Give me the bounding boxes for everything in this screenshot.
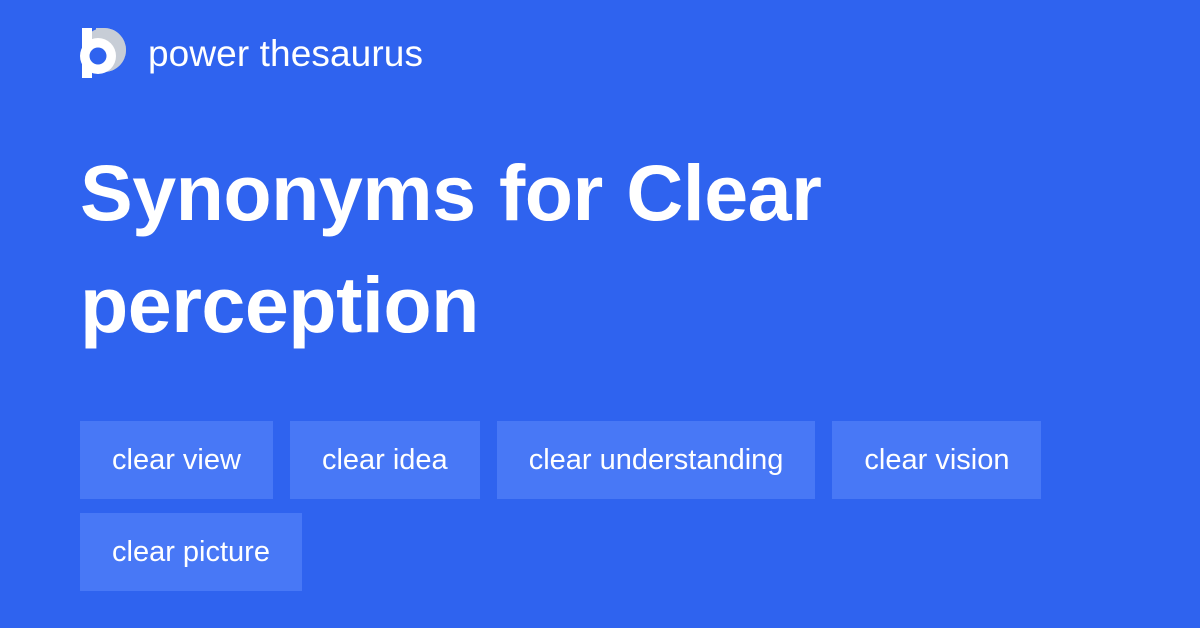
synonym-chip[interactable]: clear understanding [497, 421, 816, 499]
page-title: Synonyms for Clear perception [80, 137, 910, 361]
brand-header[interactable]: power thesaurus [80, 28, 423, 78]
power-thesaurus-b-logo-icon [80, 28, 126, 78]
brand-name: power thesaurus [148, 35, 423, 72]
synonym-chip-list: clear view clear idea clear understandin… [80, 421, 1120, 591]
share-card: power thesaurus Synonyms for Clear perce… [0, 0, 1200, 628]
synonym-chip[interactable]: clear picture [80, 513, 302, 591]
synonym-chip[interactable]: clear view [80, 421, 273, 499]
synonym-chip[interactable]: clear vision [832, 421, 1041, 499]
synonym-chip[interactable]: clear idea [290, 421, 480, 499]
